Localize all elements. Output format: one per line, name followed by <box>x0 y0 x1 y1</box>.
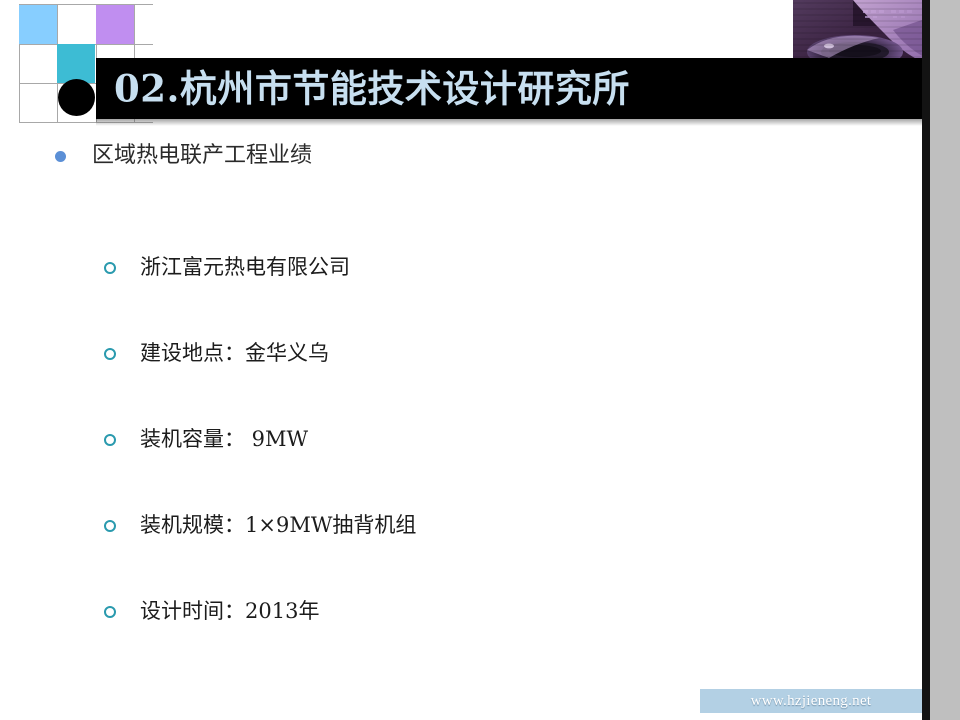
bullet-hollow-circle-icon <box>104 262 116 274</box>
decorative-square-teal <box>57 44 95 83</box>
list-item: 浙江富元热电有限公司 <box>104 225 864 311</box>
bullet-hollow-circle-icon <box>104 520 116 532</box>
decorative-square-blue <box>19 5 57 44</box>
heading-bullet-row: 区域热电联产工程业绩 <box>55 144 312 168</box>
decorative-square-purple <box>96 5 134 44</box>
bullet-hollow-circle-icon <box>104 606 116 618</box>
slide-title-bar: 02.杭州市节能技术设计研究所 <box>96 58 923 119</box>
list-item-label: 浙江富元热电有限公司 <box>140 256 350 279</box>
bullet-hollow-circle-icon <box>104 434 116 446</box>
heading-text: 区域热电联产工程业绩 <box>92 144 312 168</box>
list-item-label: 设计时间：2013年 <box>140 600 319 623</box>
list-item-label: 建设地点：金华义乌 <box>140 342 329 365</box>
list-item: 装机规模：1×9MW抽背机组 <box>104 483 864 569</box>
slide-right-gutter <box>930 0 960 720</box>
decorative-circle-black <box>58 79 95 116</box>
footer-watermark-text: www.hzjieneng.net <box>700 689 922 713</box>
page-title: 02.杭州市节能技术设计研究所 <box>114 70 630 107</box>
bullet-filled-circle-icon <box>55 151 66 162</box>
sub-bullet-list: 浙江富元热电有限公司 建设地点：金华义乌 装机容量： 9MW 装机规模：1×9M… <box>104 225 864 655</box>
list-item: 设计时间：2013年 <box>104 569 864 655</box>
bullet-hollow-circle-icon <box>104 348 116 360</box>
slide-body: 区域热电联产工程业绩 浙江富元热电有限公司 建设地点：金华义乌 装机容量： 9M… <box>0 130 922 670</box>
title-bar-shadow <box>96 119 923 126</box>
list-item: 装机容量： 9MW <box>104 397 864 483</box>
slide-right-border <box>922 0 930 720</box>
list-item: 建设地点：金华义乌 <box>104 311 864 397</box>
list-item-label: 装机规模：1×9MW抽背机组 <box>140 514 416 537</box>
footer-watermark-band: www.hzjieneng.net <box>700 689 922 713</box>
list-item-label: 装机容量： 9MW <box>140 428 308 451</box>
slide-canvas: 02.杭州市节能技术设计研究所 区域热电联产工程业绩 浙江富元热电有限公司 建设… <box>0 0 960 720</box>
